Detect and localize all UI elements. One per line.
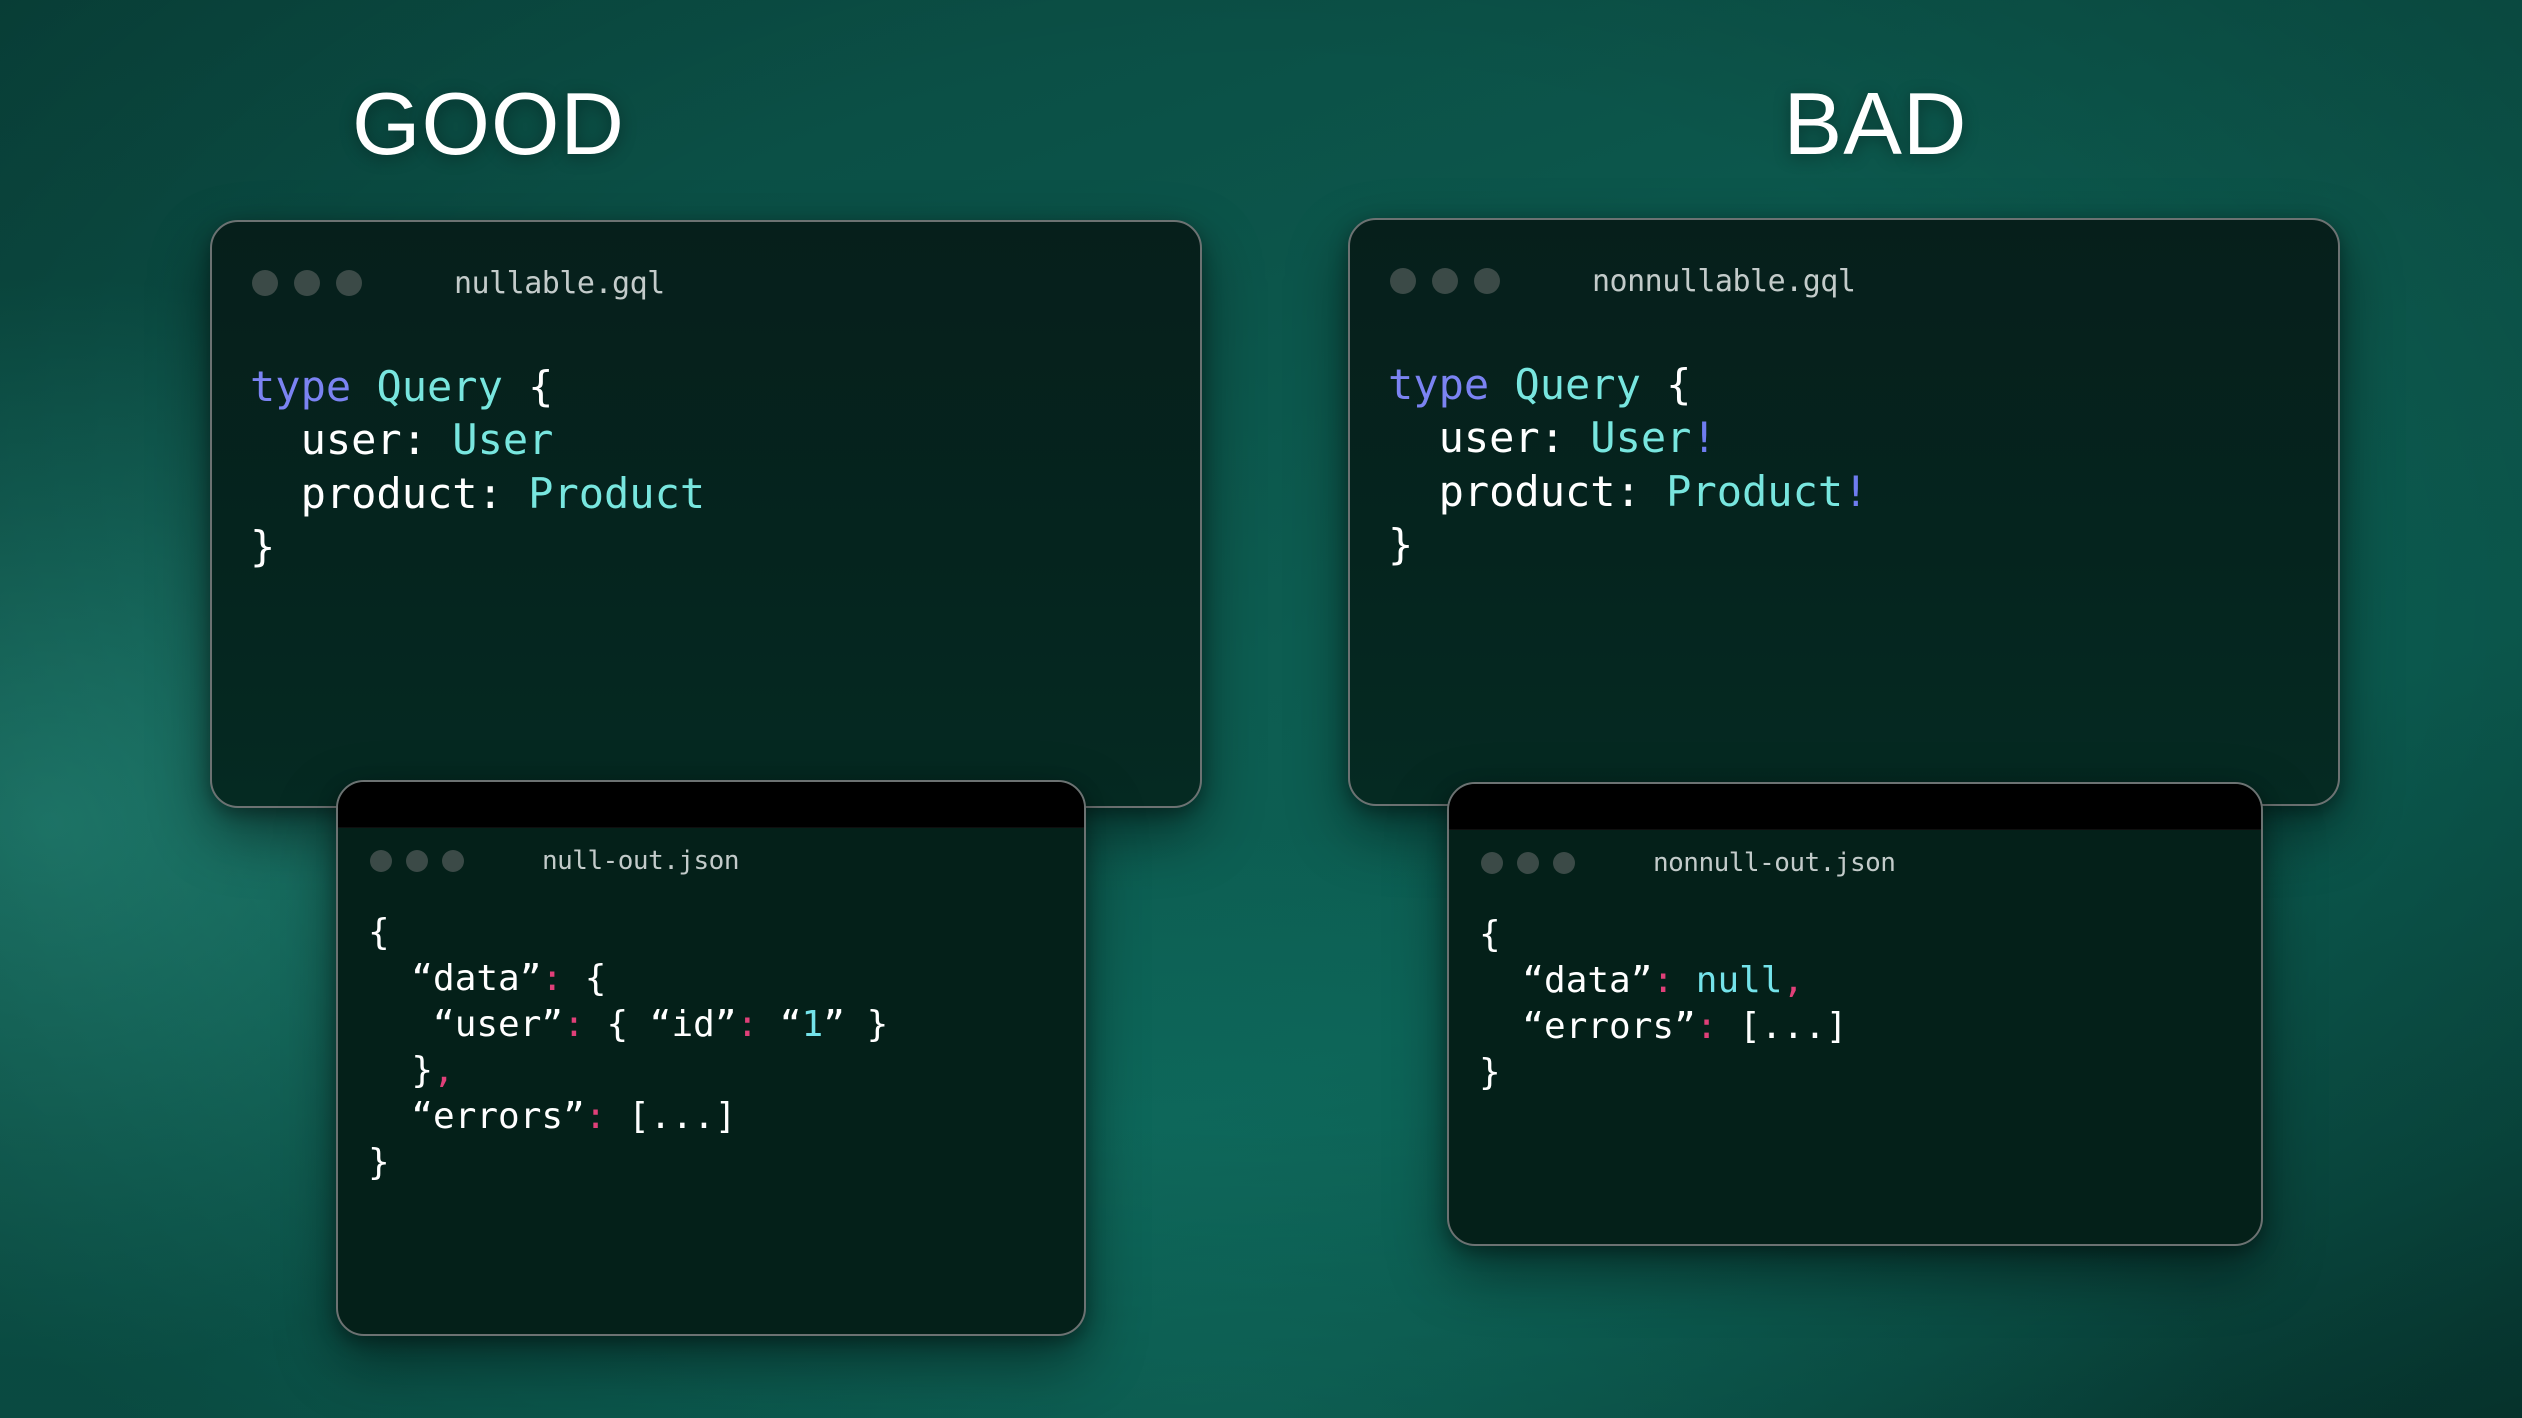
code-token-punct: user:	[1388, 413, 1590, 462]
code-block-null-out-json: { “data”: { “user”: { “id”: “1” } }, “er…	[368, 910, 888, 1186]
window-nullable-gql[interactable]: nullable.gql type Query { user: User pro…	[210, 220, 1202, 808]
code-token-kw: type	[1388, 360, 1489, 409]
code-line: type Query {	[250, 360, 705, 413]
code-token-punct: ” }	[823, 1004, 888, 1045]
code-token-punct	[1674, 960, 1696, 1001]
code-line: “data”: {	[368, 956, 888, 1002]
window-top-strip	[338, 782, 1084, 828]
code-token-colon: :	[541, 958, 563, 999]
code-token-str: “errors”	[368, 1096, 585, 1137]
code-token-kw: type	[250, 362, 351, 411]
titlebar-nullable-gql: nullable.gql	[212, 260, 1200, 306]
code-token-punct: {	[563, 958, 606, 999]
code-line: product: Product	[250, 467, 705, 520]
code-token-comma: ,	[433, 1050, 455, 1091]
code-line: product: Product!	[1388, 465, 1868, 518]
titlebar-nonnull-out-json: nonnull-out.json	[1449, 842, 2261, 884]
window-title-nullable-gql: nullable.gql	[454, 266, 665, 301]
code-line: }	[1479, 1050, 1847, 1096]
code-token-type: Query	[376, 362, 502, 411]
close-dot-icon[interactable]	[370, 850, 392, 872]
code-token-punct: }	[250, 522, 275, 571]
maximize-dot-icon[interactable]	[1553, 852, 1575, 874]
heading-bad: BAD	[1245, 80, 2506, 168]
code-token-punct: user:	[250, 415, 452, 464]
minimize-dot-icon[interactable]	[1432, 268, 1458, 294]
code-line: {	[1479, 912, 1847, 958]
code-line: }	[1388, 518, 1868, 571]
code-token-punct	[351, 362, 376, 411]
code-token-punct: {	[1479, 914, 1501, 955]
window-controls-nonnullable-gql[interactable]	[1390, 268, 1500, 294]
code-token-colon: :	[563, 1004, 585, 1045]
code-token-null: null	[1696, 960, 1783, 1001]
minimize-dot-icon[interactable]	[294, 270, 320, 296]
window-top-strip	[1449, 784, 2261, 830]
code-token-bang: !	[1691, 413, 1716, 462]
code-token-type: Product	[1666, 467, 1843, 516]
code-block-nonnull-out-json: { “data”: null, “errors”: [...] }	[1479, 912, 1847, 1096]
window-title-null-out-json: null-out.json	[542, 846, 739, 876]
maximize-dot-icon[interactable]	[336, 270, 362, 296]
code-token-punct: {	[503, 362, 554, 411]
code-line: user: User!	[1388, 411, 1868, 464]
code-token-punct: }	[368, 1050, 433, 1091]
code-token-punct: product:	[1388, 467, 1666, 516]
code-line: “user”: { “id”: “1” }	[368, 1002, 888, 1048]
code-token-str: “errors”	[1479, 1006, 1696, 1047]
window-title-nonnull-out-json: nonnull-out.json	[1653, 848, 1895, 878]
code-token-str: “id”	[650, 1004, 737, 1045]
code-line: }	[250, 520, 705, 573]
code-token-str: “data”	[1479, 960, 1652, 1001]
minimize-dot-icon[interactable]	[1517, 852, 1539, 874]
code-token-comma: ,	[1782, 960, 1804, 1001]
code-line: type Query {	[1388, 358, 1868, 411]
code-token-str: “user”	[368, 1004, 563, 1045]
code-token-colon: :	[1696, 1006, 1718, 1047]
code-token-type: User	[1590, 413, 1691, 462]
window-title-nonnullable-gql: nonnullable.gql	[1592, 264, 1855, 299]
code-line: “errors”: [...]	[368, 1094, 888, 1140]
heading-good: GOOD	[0, 80, 1119, 168]
close-dot-icon[interactable]	[1481, 852, 1503, 874]
code-token-punct: “	[758, 1004, 801, 1045]
close-dot-icon[interactable]	[252, 270, 278, 296]
code-block-nonnullable-gql: type Query { user: User! product: Produc…	[1388, 358, 1868, 571]
maximize-dot-icon[interactable]	[1474, 268, 1500, 294]
window-nonnullable-gql[interactable]: nonnullable.gql type Query { user: User!…	[1348, 218, 2340, 806]
close-dot-icon[interactable]	[1390, 268, 1416, 294]
code-line: }	[368, 1140, 888, 1186]
titlebar-null-out-json: null-out.json	[338, 840, 1084, 882]
window-controls-null-out-json[interactable]	[370, 850, 464, 872]
code-token-colon: :	[585, 1096, 607, 1137]
code-token-punct: [...]	[1717, 1006, 1847, 1047]
titlebar-nonnullable-gql: nonnullable.gql	[1350, 258, 2338, 304]
code-token-colon: :	[1652, 960, 1674, 1001]
code-token-punct: {	[585, 1004, 650, 1045]
code-token-type: Product	[528, 469, 705, 518]
code-line: “errors”: [...]	[1479, 1004, 1847, 1050]
minimize-dot-icon[interactable]	[406, 850, 428, 872]
code-block-nullable-gql: type Query { user: User product: Product…	[250, 360, 705, 573]
window-null-out-json[interactable]: null-out.json { “data”: { “user”: { “id”…	[336, 780, 1086, 1336]
code-line: user: User	[250, 413, 705, 466]
code-token-punct: product:	[250, 469, 528, 518]
code-token-type: Query	[1514, 360, 1640, 409]
code-token-bang: !	[1843, 467, 1868, 516]
code-token-punct: }	[1388, 520, 1413, 569]
code-line: },	[368, 1048, 888, 1094]
window-nonnull-out-json[interactable]: nonnull-out.json { “data”: null, “errors…	[1447, 782, 2263, 1246]
column-good: GOOD nullable.gql type Query { user: Use…	[0, 0, 1261, 1418]
code-token-punct: }	[1479, 1052, 1501, 1093]
code-token-punct	[1489, 360, 1514, 409]
code-token-num: 1	[802, 1004, 824, 1045]
code-token-punct: [...]	[606, 1096, 736, 1137]
code-token-punct: {	[368, 912, 390, 953]
maximize-dot-icon[interactable]	[442, 850, 464, 872]
code-token-type: User	[452, 415, 553, 464]
code-token-punct: {	[1641, 360, 1692, 409]
window-controls-nullable-gql[interactable]	[252, 270, 362, 296]
code-token-punct: }	[368, 1142, 390, 1183]
code-line: “data”: null,	[1479, 958, 1847, 1004]
code-line: {	[368, 910, 888, 956]
code-token-str: “data”	[368, 958, 541, 999]
window-controls-nonnull-out-json[interactable]	[1481, 852, 1575, 874]
code-token-colon: :	[737, 1004, 759, 1045]
